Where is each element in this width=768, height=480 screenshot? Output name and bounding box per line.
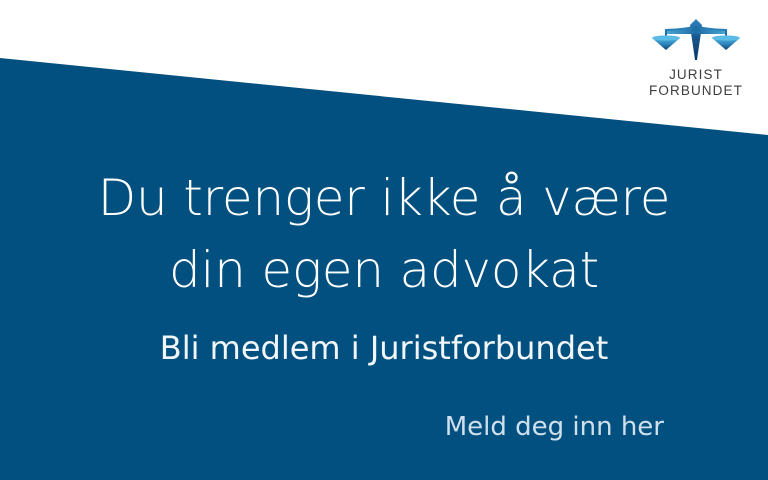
juristforbundet-logo[interactable]: JURIST FORBUNDET <box>636 16 756 98</box>
subtitle: Bli medlem i Juristforbundet <box>0 328 768 368</box>
logo-wordmark-line1: JURIST <box>636 67 756 83</box>
signup-link[interactable]: Meld deg inn her <box>0 410 768 444</box>
headline-line-2: din egen advokat <box>0 234 768 306</box>
advertisement-banner[interactable]: JURIST FORBUNDET Du trenger ikke å være … <box>0 0 768 480</box>
logo-wordmark-line2: FORBUNDET <box>636 83 756 99</box>
scales-of-justice-icon <box>646 16 746 64</box>
headline: Du trenger ikke å være din egen advokat <box>0 162 768 306</box>
headline-line-1: Du trenger ikke å være <box>0 162 768 234</box>
